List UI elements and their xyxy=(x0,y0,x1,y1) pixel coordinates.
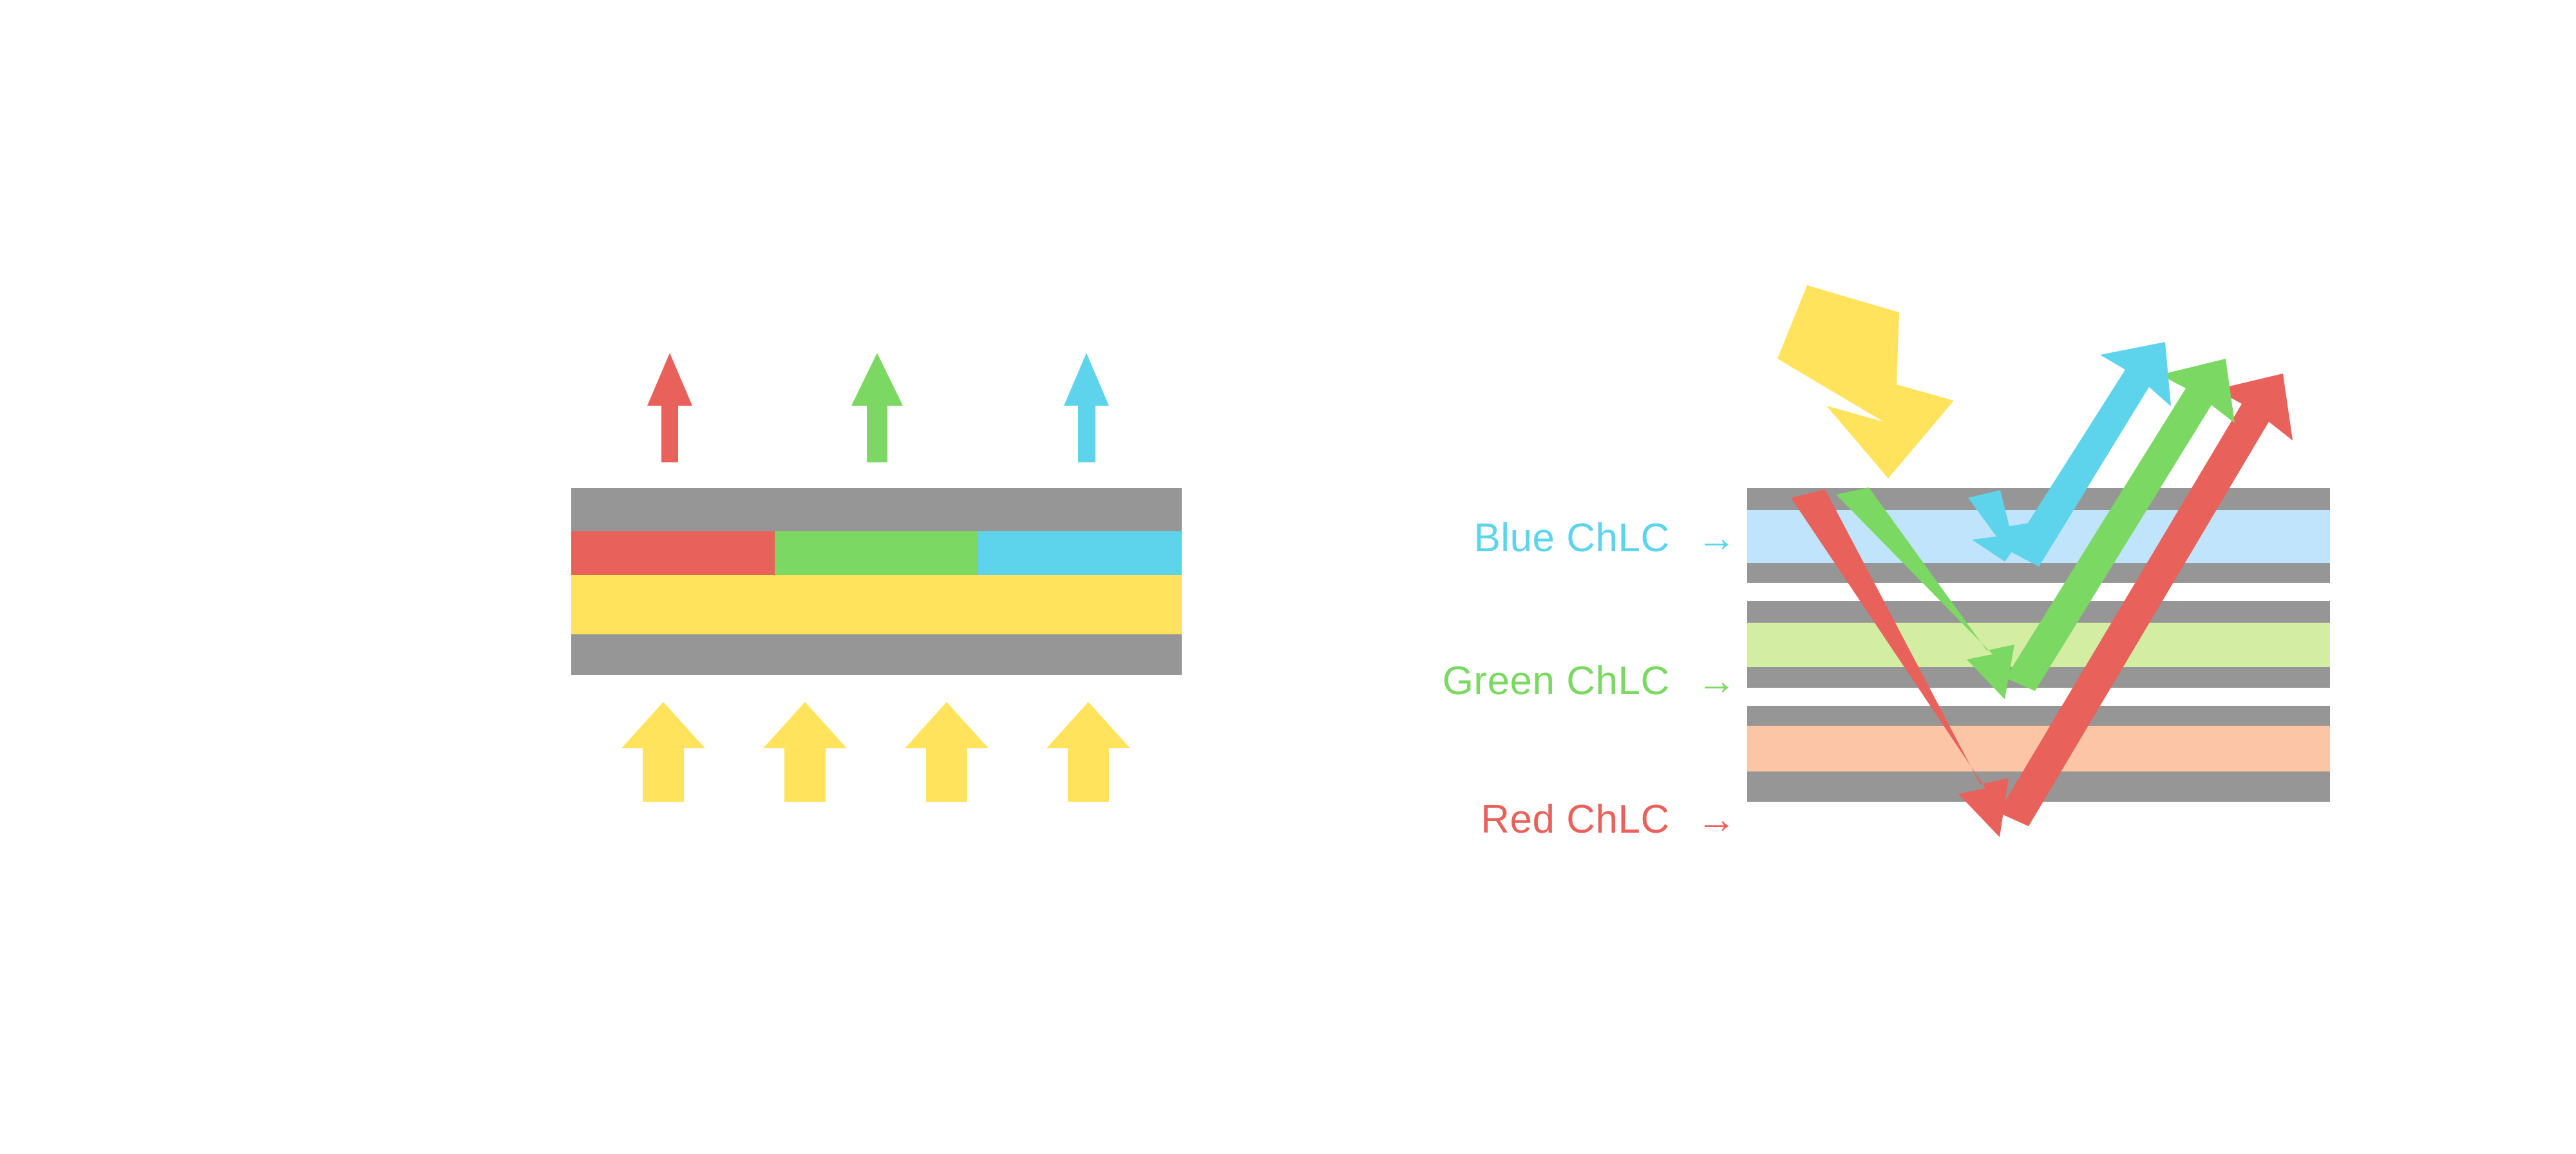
left-filter-green xyxy=(775,531,978,575)
red-chlc-label-text: Red ChLC xyxy=(1481,797,1669,842)
green-chlc-label-text: Green ChLC xyxy=(1443,659,1670,703)
green-chlc-label: Green ChLC → xyxy=(1443,659,1737,703)
right-gap-1 xyxy=(1747,583,2330,601)
incident-light-arrow-icon xyxy=(1777,285,1954,478)
backlight-arrow-3-icon xyxy=(905,702,989,802)
blue-chlc-label-text: Blue ChLC xyxy=(1473,516,1669,560)
backlight-arrow-4-icon xyxy=(1046,702,1130,802)
diagram-canvas: Blue ChLC → Green ChLC → Red ChLC → xyxy=(0,0,2576,1154)
backlight-arrow-1-icon xyxy=(621,702,705,802)
left-bottom-electrode xyxy=(571,634,1182,675)
red-chlc-label-arrow-icon: → xyxy=(1697,797,1738,842)
cyan-emitted-arrow-icon xyxy=(1064,353,1109,462)
right-gray-3 xyxy=(1747,601,2330,623)
left-backlight-arrows xyxy=(621,702,1130,802)
right-gray-5 xyxy=(1747,706,2330,726)
green-emitted-arrow-icon xyxy=(851,353,903,462)
backlight-arrow-2-icon xyxy=(763,702,847,802)
blue-chlc-label: Blue ChLC → xyxy=(1473,516,1737,560)
left-top-electrode xyxy=(571,488,1182,531)
green-chlc-label-arrow-icon: → xyxy=(1697,659,1738,703)
red-chlc-label: Red ChLC → xyxy=(1481,797,1737,842)
right-panel: Blue ChLC → Green ChLC → Red ChLC → xyxy=(1443,285,2330,842)
left-stack xyxy=(571,488,1182,675)
left-panel xyxy=(571,353,1182,802)
right-gap-2 xyxy=(1747,688,2330,706)
diagram-svg: Blue ChLC → Green ChLC → Red ChLC → xyxy=(0,0,2576,1154)
left-filter-cyan xyxy=(978,531,1182,575)
right-panel-labels: Blue ChLC → Green ChLC → Red ChLC → xyxy=(1443,516,1737,842)
blue-chlc-label-arrow-icon: → xyxy=(1697,516,1738,560)
left-emitted-arrows xyxy=(647,353,1109,462)
red-emitted-arrow-icon xyxy=(647,353,692,462)
left-filter-red xyxy=(571,531,775,575)
left-backlight-layer xyxy=(571,575,1182,634)
